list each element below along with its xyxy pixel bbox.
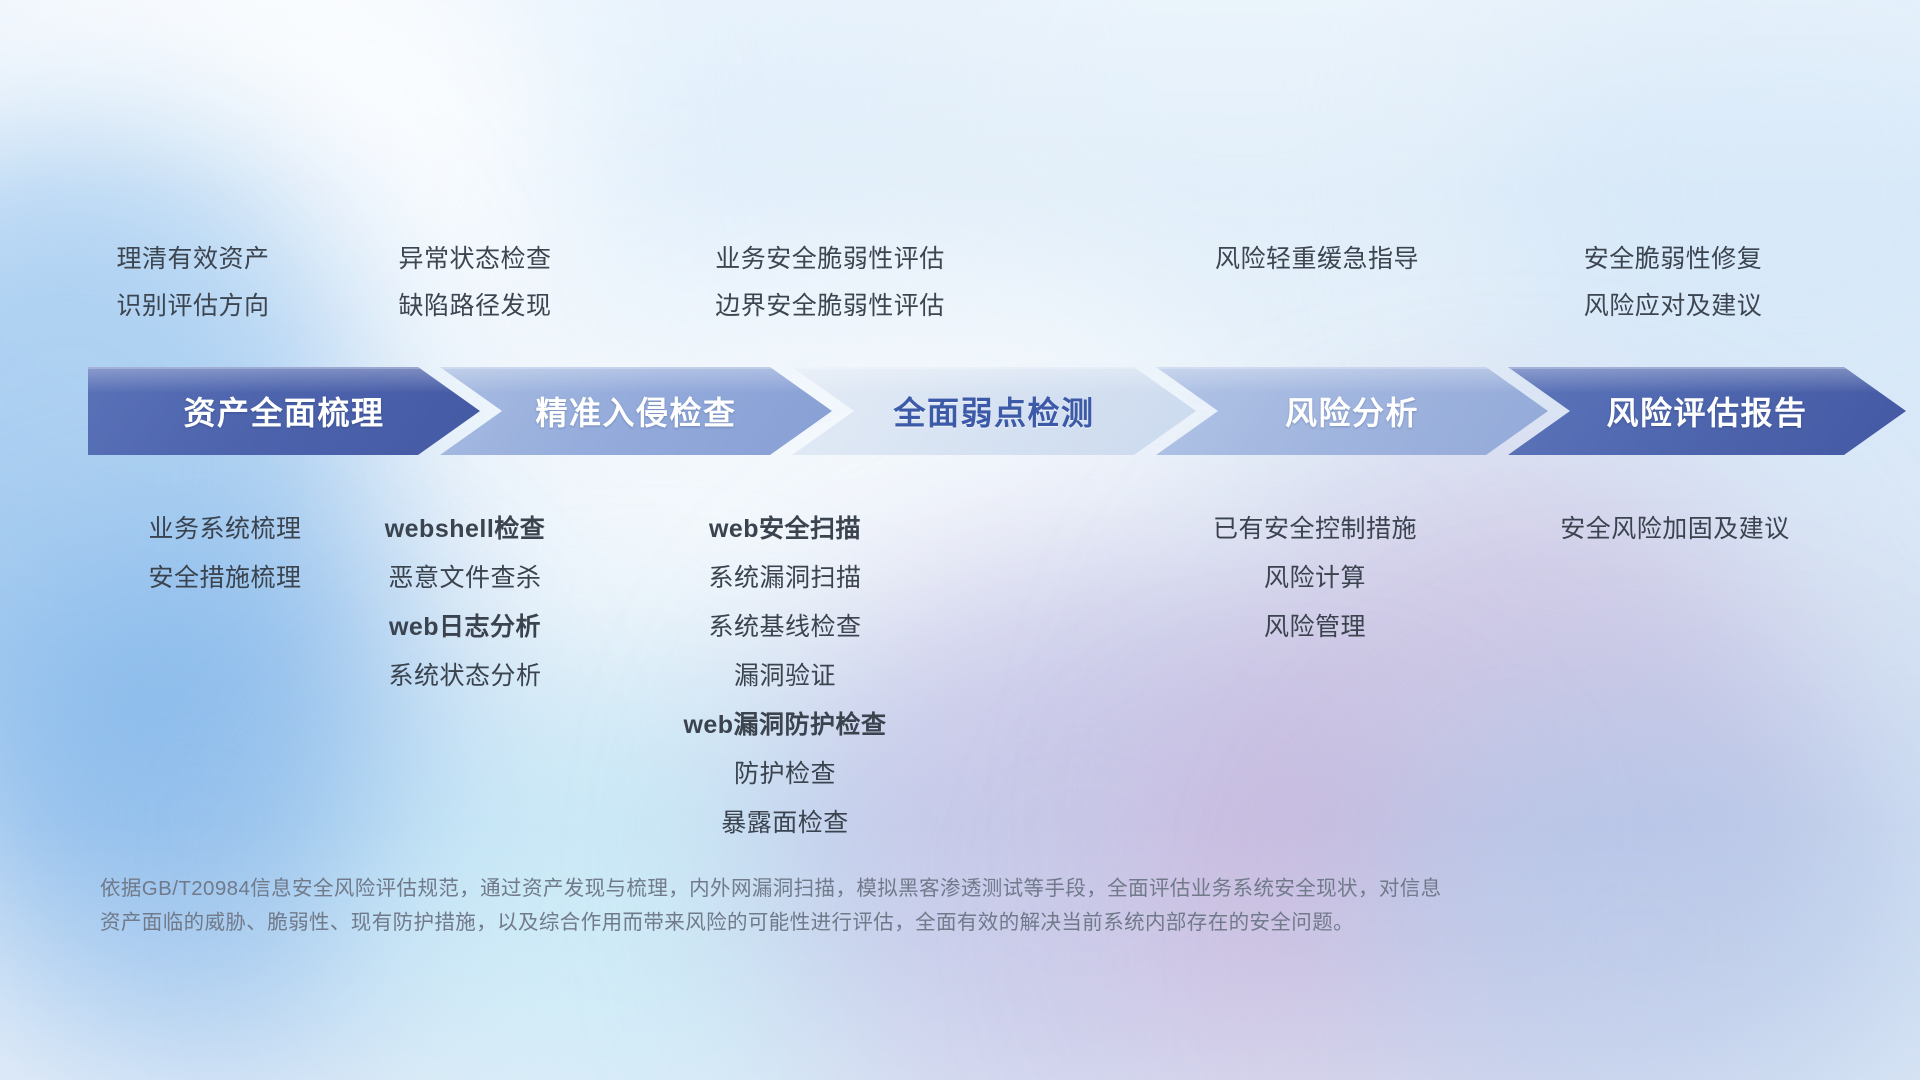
bottom-items-intrusion: webshell检查 恶意文件查杀 web日志分析 系统状态分析 [320, 505, 610, 701]
stage-chevron-weakness[interactable]: 全面弱点检测 [792, 367, 1196, 455]
stage-label: 风险分析 [1285, 388, 1419, 434]
top-item: 缺陷路径发现 [330, 283, 620, 330]
stage-label: 全面弱点检测 [893, 388, 1094, 434]
bottom-item: webshell检查 [320, 505, 610, 554]
top-item: 安全脆弱性修复 [1528, 236, 1818, 283]
top-item: 风险应对及建议 [1528, 283, 1818, 330]
bottom-item: 已有安全控制措施 [1170, 505, 1460, 554]
bottom-item: 系统漏洞扫描 [640, 554, 930, 603]
footer-line-2: 资产面临的威胁、脆弱性、现有防护措施，以及综合作用而带来风险的可能性进行评估，全… [100, 906, 1660, 940]
stage-chevron-intrusion[interactable]: 精准入侵检查 [440, 367, 832, 455]
stage-label: 资产全面梳理 [183, 388, 384, 434]
top-item: 边界安全脆弱性评估 [675, 283, 985, 330]
stage-label: 精准入侵检查 [535, 388, 736, 434]
bottom-item: 防护检查 [640, 750, 930, 799]
top-item: 业务安全脆弱性评估 [675, 236, 985, 283]
top-item: 识别评估方向 [48, 283, 338, 330]
bottom-item: 系统状态分析 [320, 652, 610, 701]
bottom-item: 暴露面检查 [640, 799, 930, 848]
top-items-asset: 理清有效资产 识别评估方向 [48, 236, 338, 330]
top-items-intrusion: 异常状态检查 缺陷路径发现 [330, 236, 620, 330]
top-items-weakness: 业务安全脆弱性评估 边界安全脆弱性评估 [675, 236, 985, 330]
stage-chevron-risk-analysis[interactable]: 风险分析 [1156, 367, 1548, 455]
top-items-report: 安全脆弱性修复 风险应对及建议 [1528, 236, 1818, 330]
bottom-item: 系统基线检查 [640, 603, 930, 652]
bottom-items-weakness: web安全扫描 系统漏洞扫描 系统基线检查 漏洞验证 web漏洞防护检查 防护检… [640, 505, 930, 848]
footer-description: 依据GB/T20984信息安全风险评估规范，通过资产发现与梳理，内外网漏洞扫描，… [100, 872, 1660, 940]
bottom-item: 安全风险加固及建议 [1520, 505, 1830, 554]
footer-line-1: 依据GB/T20984信息安全风险评估规范，通过资产发现与梳理，内外网漏洞扫描，… [100, 872, 1660, 906]
top-item: 理清有效资产 [48, 236, 338, 283]
bottom-items-report: 安全风险加固及建议 [1520, 505, 1830, 554]
bottom-item: 风险计算 [1170, 554, 1460, 603]
bottom-item: 恶意文件查杀 [320, 554, 610, 603]
top-item: 风险轻重缓急指导 [1172, 236, 1462, 283]
bottom-item: 风险管理 [1170, 603, 1460, 652]
bottom-items-risk-analysis: 已有安全控制措施 风险计算 风险管理 [1170, 505, 1460, 652]
bottom-item: web漏洞防护检查 [640, 701, 930, 750]
top-items-risk-analysis: 风险轻重缓急指导 [1172, 236, 1462, 283]
bottom-item: 漏洞验证 [640, 652, 930, 701]
top-item: 异常状态检查 [330, 236, 620, 283]
process-diagram: 理清有效资产 识别评估方向 异常状态检查 缺陷路径发现 业务安全脆弱性评估 边界… [0, 0, 1920, 1080]
bottom-item: web日志分析 [320, 603, 610, 652]
stage-label: 风险评估报告 [1606, 388, 1807, 434]
stage-chevron-band: 资产全面梳理 精准入侵检查 全面弱点检测 风险分析 风险评估报告 [88, 367, 1848, 455]
bottom-item: web安全扫描 [640, 505, 930, 554]
stage-chevron-asset[interactable]: 资产全面梳理 [88, 367, 480, 455]
stage-chevron-report[interactable]: 风险评估报告 [1508, 367, 1906, 455]
